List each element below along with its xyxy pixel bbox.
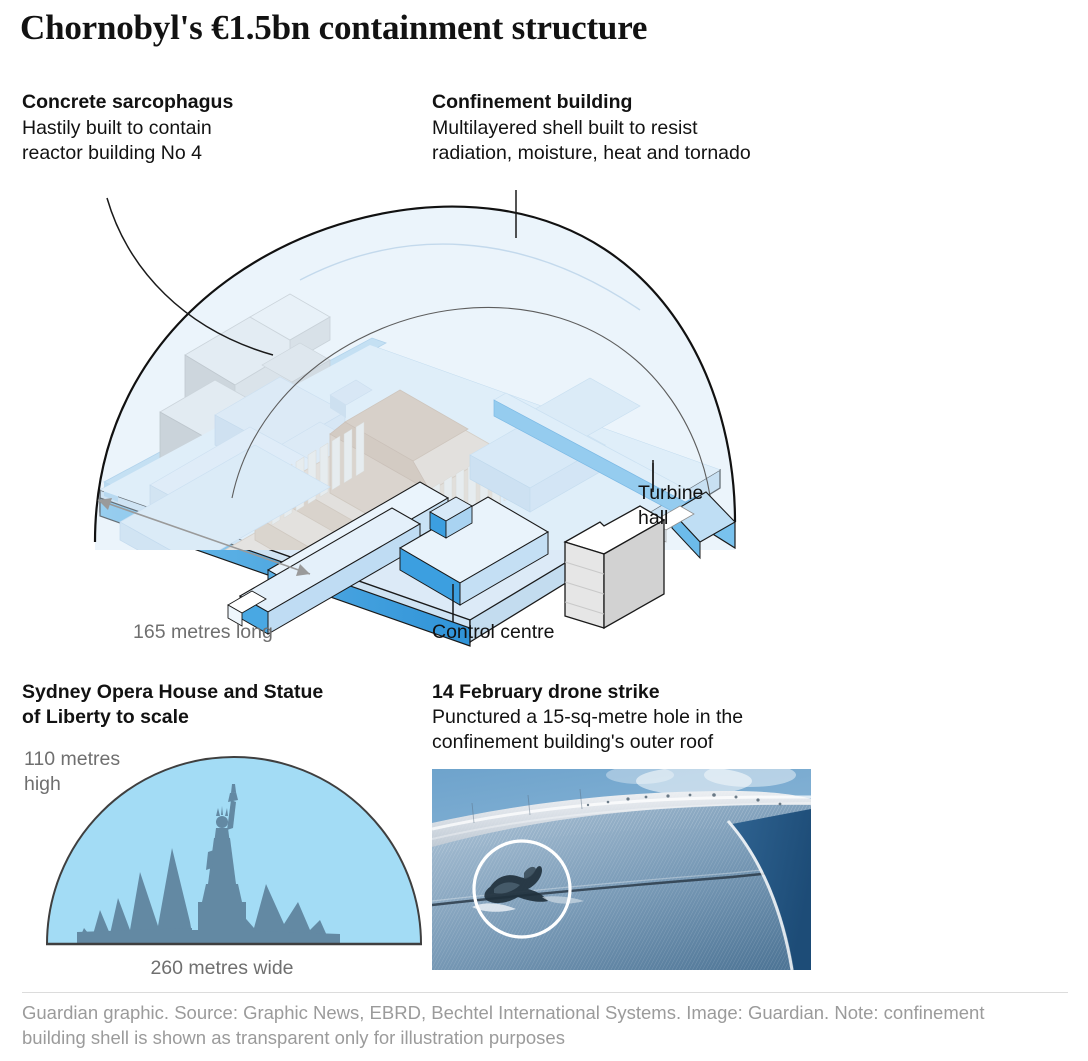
callout-heading: Concrete sarcophagus bbox=[22, 90, 292, 115]
drone-strike-photo bbox=[432, 769, 811, 970]
photo-body-line1: Punctured a 15-sq-metre hole in the bbox=[432, 705, 832, 730]
dome-height-line1: 110 metres bbox=[24, 747, 144, 772]
scale-figure: 110 metres high 260 metres wide bbox=[22, 752, 422, 992]
label-dome-height: 110 metres high bbox=[24, 747, 144, 797]
footer-source-note: Guardian graphic. Source: Graphic News, … bbox=[22, 1000, 1082, 1050]
photo-render bbox=[432, 769, 811, 970]
containment-structure-illustration bbox=[0, 150, 860, 650]
scale-heading-line1: Sydney Opera House and Statue bbox=[22, 680, 422, 705]
callout-heading: Confinement building bbox=[432, 90, 832, 115]
drone-strike-panel: 14 February drone strike Punctured a 15-… bbox=[432, 680, 832, 970]
footer-line1: Guardian graphic. Source: Graphic News, … bbox=[22, 1000, 1082, 1025]
label-control-centre: Control centre bbox=[432, 620, 554, 645]
label-dome-width: 260 metres wide bbox=[22, 957, 422, 980]
footer-divider bbox=[22, 992, 1068, 993]
label-length-dimension: 165 metres long bbox=[133, 620, 273, 645]
turbine-hall-line2: hall bbox=[638, 506, 748, 531]
infographic-page: Chornobyl's €1.5bn containment structure… bbox=[0, 0, 1088, 1061]
dome-height-line2: high bbox=[24, 772, 144, 797]
photo-heading: 14 February drone strike bbox=[432, 680, 832, 705]
page-title: Chornobyl's €1.5bn containment structure bbox=[20, 8, 647, 48]
photo-body-line2: confinement building's outer roof bbox=[432, 730, 832, 755]
callout-body-line1: Hastily built to contain bbox=[22, 116, 292, 141]
turbine-hall-line1: Turbine bbox=[638, 481, 748, 506]
label-turbine-hall: Turbine hall bbox=[638, 481, 748, 531]
callout-body-line1: Multilayered shell built to resist bbox=[432, 116, 832, 141]
footer-line2: building shell is shown as transparent o… bbox=[22, 1025, 1082, 1050]
scale-comparison-panel: Sydney Opera House and Statue of Liberty… bbox=[22, 680, 422, 992]
scale-heading-line2: of Liberty to scale bbox=[22, 705, 422, 730]
